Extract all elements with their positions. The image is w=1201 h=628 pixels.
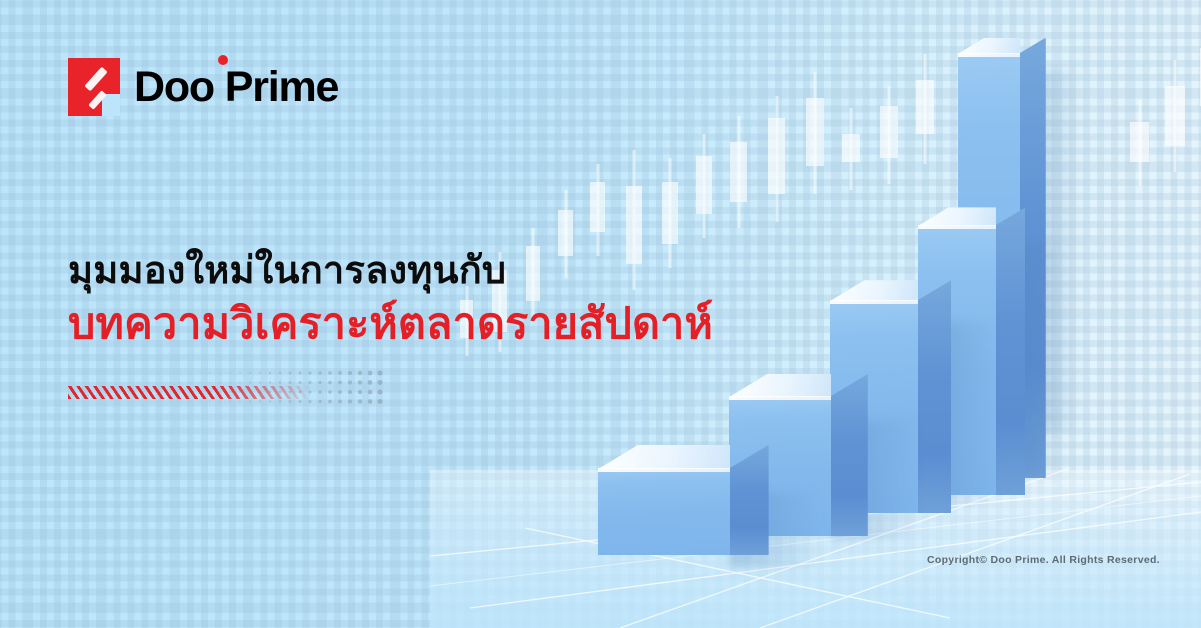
- candle-body: [916, 80, 934, 134]
- chart-bar: [729, 396, 831, 536]
- candlestick: [916, 0, 934, 500]
- candlestick: [880, 0, 898, 500]
- bar-front-face: [958, 53, 1020, 478]
- floor-perspective-grid: [430, 468, 1201, 628]
- headline-block: มุมมองใหม่ในการลงทุนกับ บทความวิเคราะห์ต…: [68, 248, 713, 351]
- bar-shadow: [918, 322, 997, 503]
- chart-bar: [598, 468, 730, 555]
- chart-bar: [830, 300, 918, 513]
- candle-body: [842, 134, 860, 162]
- candle-wick: [737, 116, 740, 228]
- candle-body: [880, 106, 898, 158]
- bar-top-highlight: [830, 300, 918, 304]
- candle-body: [696, 156, 712, 214]
- logo-accent-dot: [218, 55, 228, 65]
- chart-bar: [958, 53, 1020, 478]
- candle-wick: [888, 86, 891, 184]
- candle-body: [806, 98, 824, 166]
- doo-prime-logo-icon: [68, 58, 120, 116]
- bar-side-face: [918, 280, 951, 513]
- candle-wick: [1174, 60, 1177, 172]
- bar-front-face: [830, 300, 918, 513]
- candle-body: [730, 142, 747, 202]
- chart-bar: [918, 225, 996, 495]
- candle-wick: [850, 108, 853, 190]
- candle-wick: [775, 96, 778, 222]
- candlestick: [1130, 0, 1149, 500]
- candle-body: [662, 182, 678, 244]
- candle-wick: [1138, 100, 1141, 186]
- bar-top-highlight: [598, 468, 730, 472]
- candlestick: [768, 0, 785, 500]
- bar-side-face: [996, 207, 1025, 495]
- decorative-rule: [68, 368, 388, 410]
- brand-logo[interactable]: Doo Prime: [68, 58, 338, 116]
- bar-side-face: [730, 445, 769, 555]
- candle-body: [768, 118, 785, 194]
- bar-shadow: [730, 493, 822, 567]
- candle-body: [590, 182, 605, 232]
- candle-wick: [814, 72, 817, 194]
- bar-top-face: [830, 280, 918, 301]
- candle-wick: [924, 54, 927, 164]
- candle-body: [1165, 86, 1185, 146]
- diagonal-hatch-bar: [68, 386, 310, 399]
- candlestick: [730, 0, 747, 500]
- bar-top-highlight: [729, 396, 831, 400]
- bar-top-face: [598, 445, 730, 469]
- chart-floor-plane: [430, 470, 1201, 628]
- candlestick: [1165, 0, 1185, 500]
- headline-line-1: มุมมองใหม่ในการลงทุนกับ: [68, 248, 713, 296]
- bar-front-face: [598, 468, 730, 555]
- bar-top-face: [958, 38, 1020, 54]
- candle-wick: [703, 134, 706, 238]
- bar-top-face: [918, 207, 996, 226]
- copyright-text: Copyright© Doo Prime. All Rights Reserve…: [927, 554, 1160, 566]
- bar-front-face: [918, 225, 996, 495]
- candlestick: [842, 0, 860, 500]
- brand-name: Doo Prime: [134, 66, 338, 109]
- bar-side-face: [1020, 38, 1046, 478]
- candle-wick: [596, 164, 599, 256]
- bar-shadow: [1020, 70, 1082, 431]
- bar-top-face: [729, 374, 831, 397]
- bar-side-face: [831, 374, 868, 536]
- bar-front-face: [729, 396, 831, 536]
- marketing-banner: Doo Prime มุมมองใหม่ในการลงทุนกับ บทความ…: [0, 0, 1201, 628]
- bar-shadow: [831, 420, 919, 539]
- candle-body: [1130, 122, 1149, 162]
- bar-shadow: [996, 244, 1066, 474]
- bar-top-highlight: [918, 225, 996, 229]
- headline-line-2: บทความวิเคราะห์ตลาดรายสัปดาห์: [68, 298, 713, 351]
- candlestick: [806, 0, 824, 500]
- bar-top-highlight: [958, 53, 1020, 57]
